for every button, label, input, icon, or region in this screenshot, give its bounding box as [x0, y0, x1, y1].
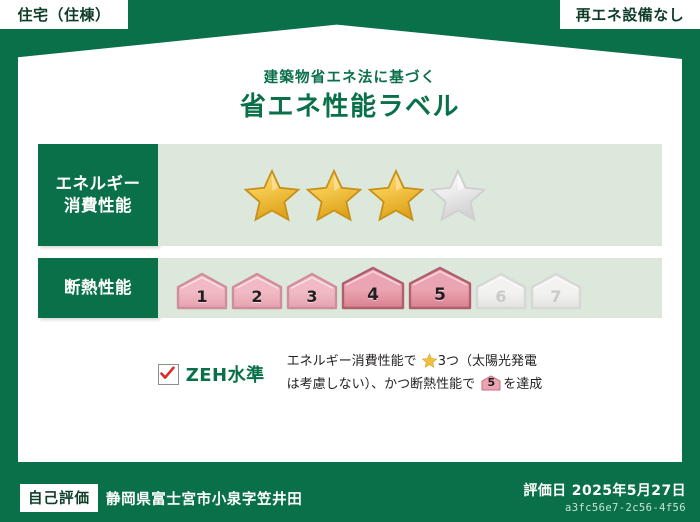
- insulation-level-2: 2: [231, 272, 283, 310]
- zeh-checkbox-group: ZEH水準: [158, 361, 265, 387]
- insulation-level-number: 1: [176, 287, 228, 306]
- evaluation-date: 評価日 2025年5月27日: [523, 480, 686, 500]
- zeh-checkbox: [158, 364, 179, 385]
- insulation-level-6: 6: [475, 272, 527, 310]
- insulation-level-4: 4: [341, 266, 405, 310]
- footer-left: 自己評価 静岡県富士宮市小泉字笠井田: [20, 484, 302, 512]
- zeh-description: エネルギー消費性能で 3つ（太陽光発電 は考慮しない）、かつ断熱性能で 5 を達…: [287, 352, 543, 395]
- insulation-level-number: 5: [408, 285, 472, 305]
- insulation-level-7: 7: [530, 272, 582, 310]
- page-title: 省エネ性能ラベル: [18, 86, 682, 123]
- renewable-equipment-badge: 再エネ設備なし: [560, 0, 700, 30]
- insulation-level-number: 3: [286, 287, 338, 306]
- star-filled-icon: [244, 168, 300, 222]
- energy-label-line1: エネルギー: [56, 173, 141, 195]
- energy-performance-row: エネルギー 消費性能: [38, 144, 662, 246]
- zeh-desc-part4: を達成: [503, 377, 542, 392]
- zeh-section: ZEH水準 エネルギー消費性能で 3つ（太陽光発電 は考慮しない）、かつ断熱性能…: [18, 352, 682, 395]
- insulation-level-1: 1: [176, 272, 228, 310]
- footer-right: 評価日 2025年5月27日 a3fc56e7-2c56-4f56: [523, 480, 686, 514]
- insulation-performance-label: 断熱性能: [38, 258, 158, 318]
- dwelling-type-badge: 住宅（住棟）: [0, 0, 128, 30]
- inline-level-badge: 5: [481, 375, 501, 391]
- insulation-performance-value: 1234567: [158, 258, 662, 318]
- zeh-desc-part3: は考慮しない）、かつ断熱性能で: [287, 377, 476, 392]
- check-icon: [160, 366, 175, 381]
- energy-label-line2: 消費性能: [56, 195, 141, 217]
- insulation-level-number: 6: [475, 287, 527, 306]
- zeh-desc-part2: 3つ（太陽光発電: [438, 354, 537, 369]
- star-empty-icon: [430, 168, 486, 222]
- document-hash: a3fc56e7-2c56-4f56: [523, 502, 686, 514]
- label-subtitle: 建築物省エネ法に基づく: [18, 66, 682, 87]
- label-white-panel: 建築物省エネ法に基づく 省エネ性能ラベル エネルギー 消費性能 断熱性能: [18, 22, 682, 462]
- energy-performance-value: [158, 144, 662, 246]
- zeh-desc-part1: エネルギー消費性能で: [287, 354, 417, 369]
- insulation-level-scale: 1234567: [176, 266, 582, 310]
- insulation-level-number: 7: [530, 287, 582, 306]
- insulation-performance-row: 断熱性能 1234567: [38, 258, 662, 318]
- energy-performance-label: エネルギー 消費性能: [38, 144, 158, 246]
- star-filled-icon: [306, 168, 362, 222]
- insulation-level-number: 2: [231, 287, 283, 306]
- inline-star-icon: [422, 353, 437, 375]
- zeh-label: ZEH水準: [186, 361, 265, 387]
- self-evaluation-badge: 自己評価: [20, 484, 98, 512]
- property-address: 静岡県富士宮市小泉字笠井田: [106, 488, 302, 509]
- inline-level-number: 5: [481, 374, 501, 391]
- insulation-level-5: 5: [408, 266, 472, 310]
- insulation-level-number: 4: [341, 285, 405, 305]
- energy-label-card: 住宅（住棟） 再エネ設備なし 建築物省エネ法に基づく 省エネ性能ラベル エネルギ…: [0, 0, 700, 522]
- star-filled-icon: [368, 168, 424, 222]
- insulation-level-3: 3: [286, 272, 338, 310]
- star-rating: [244, 168, 486, 222]
